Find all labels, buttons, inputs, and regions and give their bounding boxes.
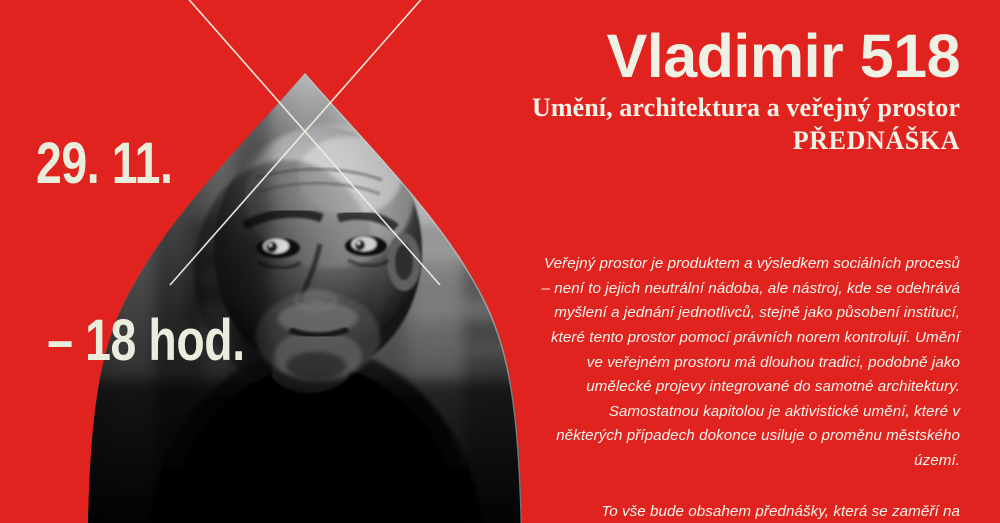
page-title: Vladimir 518 xyxy=(532,26,960,87)
description-block: Veřejný prostor je produktem a výsledkem… xyxy=(540,252,960,523)
description-paragraph-2: To vše bude obsahem přednášky, která se … xyxy=(540,500,960,523)
event-time: – 18 hod. xyxy=(47,313,245,368)
header-block: Vladimir 518 Umění, architektura a veřej… xyxy=(532,26,960,156)
event-type-label: PŘEDNÁŠKA xyxy=(532,126,960,157)
event-date: 29. 11. xyxy=(36,136,245,191)
description-paragraph-1: Veřejný prostor je produktem a výsledkem… xyxy=(540,252,960,474)
poster-canvas: 29. 11. – 18 hod. Vladimir 518 Umění, ar… xyxy=(0,0,1000,523)
subtitle: Umění, architektura a veřejný prostor xyxy=(532,93,960,124)
event-date-block: 29. 11. – 18 hod. xyxy=(36,26,245,479)
